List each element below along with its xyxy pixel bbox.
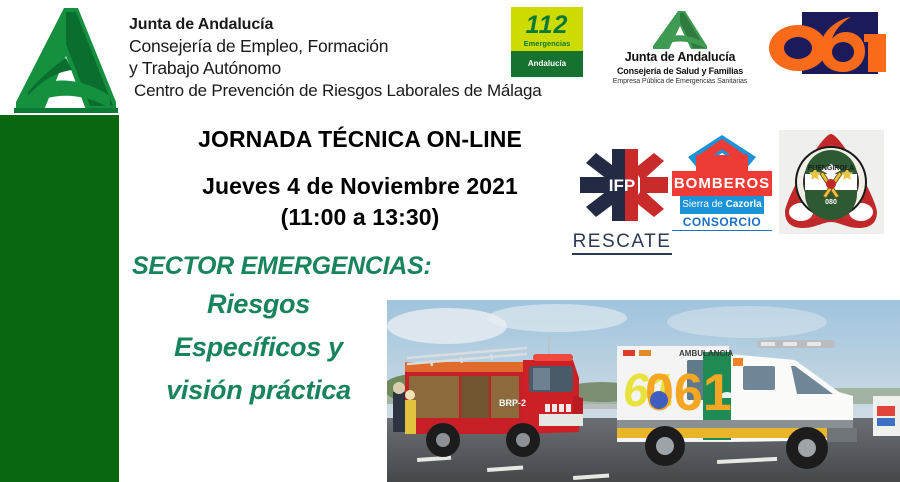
logo-112-number: 112: [511, 13, 583, 38]
junta-de-andalucia-a-emblem-icon: [14, 6, 118, 114]
ambulance-label: AMBULANCIA: [679, 349, 733, 358]
event-time: (11:00 a 13:30): [140, 202, 580, 233]
logo-bomberos-cazorla: BOMBEROS Sierra de Cazorla CONSORCIO: [672, 135, 772, 235]
event-kind: JORNADA TÉCNICA ON-LINE: [140, 124, 580, 154]
logo-061-emergencias-icon: [768, 12, 892, 76]
ifp-star-of-life-icon: IFP: [572, 143, 672, 231]
logo-112-subtitle: Emergencias: [511, 38, 583, 49]
main-title-sector: SECTOR EMERGENCIAS:: [132, 249, 391, 283]
svg-text:IFP: IFP: [609, 176, 635, 195]
fuengirola-number-label: 080: [825, 199, 837, 206]
main-title-block: SECTOR EMERGENCIAS: Riesgos Específicos …: [126, 249, 391, 412]
left-green-bar: [0, 115, 119, 482]
logo-ifp-rescate: IFP RESCATE: [572, 143, 672, 255]
bomberos-wordmark: BOMBEROS: [672, 171, 772, 196]
main-title-vision: visión práctica: [126, 369, 391, 412]
junta-salud-line2: Consejería de Salud y Familias: [600, 65, 760, 77]
bomberos-cazorla-text: Cazorla: [726, 199, 762, 210]
rescate-wordmark: RESCATE: [572, 231, 672, 255]
emblem-underline-rule: [14, 108, 118, 113]
main-title-especificos: Específicos y: [126, 326, 391, 369]
logo-bomberos-fuengirola-icon: FUENGIROLA 080: [779, 130, 884, 234]
logo-junta-salud-familias: Junta de Andalucía Consejería de Salud y…: [600, 10, 760, 92]
photo-emergency-vehicles: BRP-2: [387, 300, 900, 482]
junta-salud-line1: Junta de Andalucía: [600, 50, 760, 65]
bomberos-sierra-text: Sierra de: [682, 199, 725, 210]
event-date: Jueves 4 de Noviembre 2021: [140, 171, 580, 202]
bomberos-consorcio: CONSORCIO: [672, 214, 772, 231]
header-line-centro: Centro de Prevención de Riesgos Laborale…: [129, 79, 589, 103]
bomberos-sierra-cazorla: Sierra de Cazorla: [680, 196, 764, 214]
fire-truck-label: BRP-2: [499, 398, 526, 408]
event-title-block: JORNADA TÉCNICA ON-LINE Jueves 4 de Novi…: [140, 124, 580, 233]
main-title-riesgos: Riesgos: [126, 283, 391, 326]
poster-canvas: Junta de Andalucía Consejería de Empleo,…: [0, 0, 900, 482]
logo-112-emergencias: 112 Emergencias Andalucía: [511, 7, 583, 77]
junta-salud-line3: Empresa Pública de Emergencias Sanitaria…: [600, 77, 760, 87]
fuengirola-city-label: FUENGIROLA: [808, 165, 854, 172]
logo-112-region: Andalucía: [511, 51, 583, 77]
junta-salud-a-emblem-icon: [600, 10, 760, 50]
